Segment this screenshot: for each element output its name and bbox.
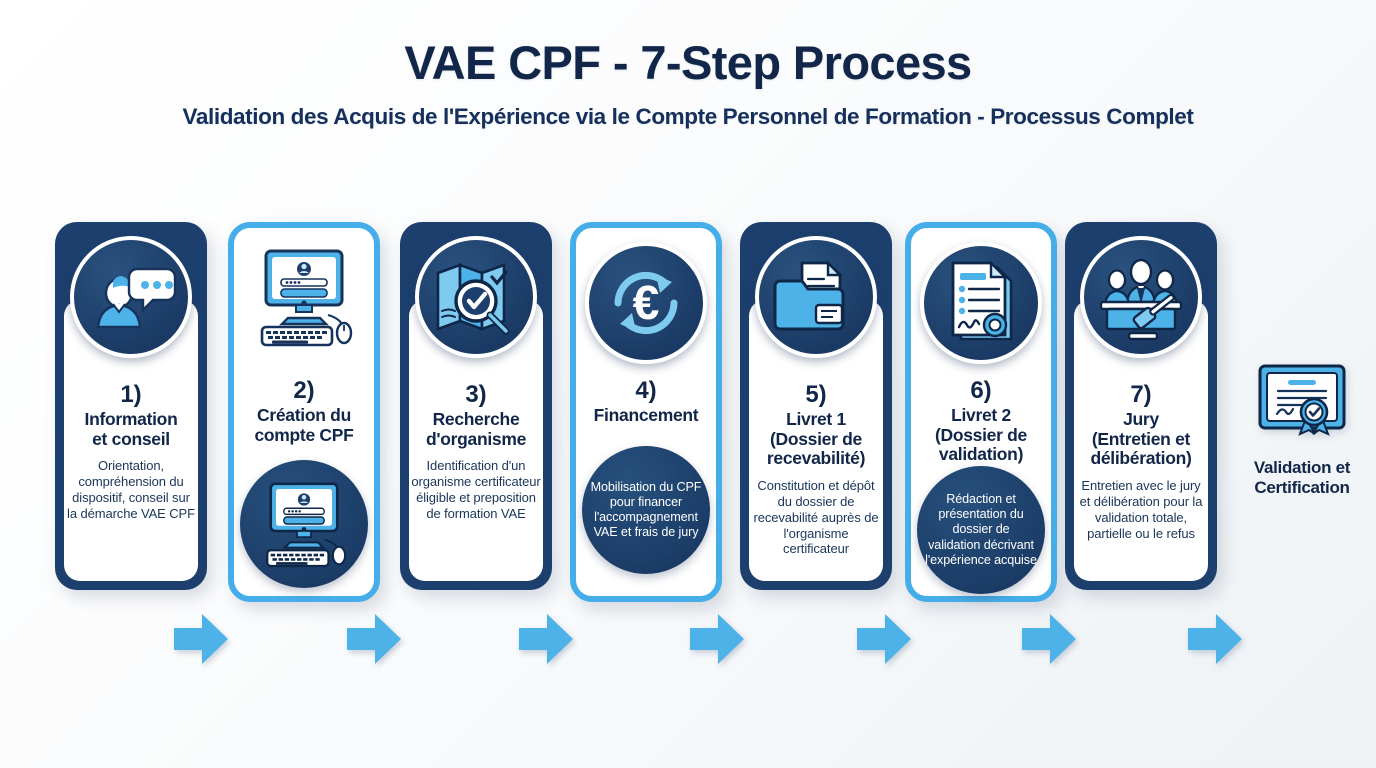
step-5-text: 5) Livret 1 (Dossier de recevabilité) Co… bbox=[744, 382, 888, 557]
step-card-3[interactable]: 3) Recherche d'organisme Identification … bbox=[400, 222, 552, 590]
euro-cycle-icon: € bbox=[585, 242, 707, 364]
final-certification-block: Validation et Certification bbox=[1232, 362, 1372, 497]
step-7-text: 7) Jury (Entretien et délibération) Entr… bbox=[1069, 382, 1213, 541]
step-card-5[interactable]: 5) Livret 1 (Dossier de recevabilité) Co… bbox=[740, 222, 892, 590]
map-magnifier-check-icon bbox=[415, 236, 537, 358]
step-6-title: Livret 2 (Dossier de validation) bbox=[915, 406, 1047, 465]
final-certification-label: Validation et Certification bbox=[1232, 458, 1372, 497]
step-3-text: 3) Recherche d'organisme Identification … bbox=[404, 382, 548, 522]
step-1-title: Information et conseil bbox=[59, 410, 203, 449]
step-4-number: 4) bbox=[580, 378, 712, 403]
certificate-award-icon bbox=[1232, 362, 1372, 444]
step-2-text: 2) Création du compte CPF bbox=[238, 378, 370, 445]
step-card-7[interactable]: 7) Jury (Entretien et délibération) Entr… bbox=[1065, 222, 1217, 590]
step-6-number: 6) bbox=[915, 378, 1047, 403]
step-2-title: Création du compte CPF bbox=[238, 406, 370, 445]
computer-login-icon bbox=[243, 236, 365, 358]
step-7-number: 7) bbox=[1069, 382, 1213, 407]
signed-certificate-document-icon bbox=[920, 242, 1042, 364]
folder-documents-icon bbox=[755, 236, 877, 358]
step-3-description: Identification d'un organisme certificat… bbox=[404, 458, 548, 521]
person-speech-bubble-icon bbox=[70, 236, 192, 358]
step-7-description: Entretien avec le jury et délibération p… bbox=[1069, 478, 1213, 541]
flow-arrow-1 bbox=[172, 610, 230, 668]
flow-arrow-5 bbox=[855, 610, 913, 668]
step-card-4[interactable]: € 4) Financement Mobilisation du CPF pou… bbox=[570, 222, 722, 602]
flow-arrow-6 bbox=[1020, 610, 1078, 668]
flow-arrow-4 bbox=[688, 610, 746, 668]
page-title: VAE CPF - 7-Step Process bbox=[0, 38, 1376, 87]
step-4-description: Mobilisation du CPF pour financer l'acco… bbox=[582, 480, 710, 540]
computer-login-icon-secondary bbox=[240, 460, 368, 588]
step-card-6[interactable]: 6) Livret 2 (Dossier de validation) Réda… bbox=[905, 222, 1057, 602]
jury-panel-gavel-icon bbox=[1080, 236, 1202, 358]
step-5-description: Constitution et dépôt du dossier de rece… bbox=[744, 478, 888, 557]
step-card-1[interactable]: 1) Information et conseil Orientation, c… bbox=[55, 222, 207, 590]
flow-arrow-3 bbox=[517, 610, 575, 668]
step-1-number: 1) bbox=[59, 382, 203, 407]
step-5-number: 5) bbox=[744, 382, 888, 407]
step-1-text: 1) Information et conseil Orientation, c… bbox=[59, 382, 203, 522]
svg-text:€: € bbox=[633, 277, 660, 330]
step-2-number: 2) bbox=[238, 378, 370, 403]
flow-arrow-7 bbox=[1186, 610, 1244, 668]
step-4-title: Financement bbox=[580, 406, 712, 426]
step-1-description: Orientation, compréhension du dispositif… bbox=[59, 458, 203, 521]
step-6-description-circle: Rédaction et présentation du dossier de … bbox=[917, 466, 1045, 594]
step-7-title: Jury (Entretien et délibération) bbox=[1069, 410, 1213, 469]
step-3-number: 3) bbox=[404, 382, 548, 407]
step-6-description: Rédaction et présentation du dossier de … bbox=[917, 492, 1045, 568]
process-flow: 1) Information et conseil Orientation, c… bbox=[0, 222, 1376, 622]
step-6-text: 6) Livret 2 (Dossier de validation) bbox=[915, 378, 1047, 465]
page-subtitle: Validation des Acquis de l'Expérience vi… bbox=[0, 104, 1376, 130]
step-4-text: 4) Financement bbox=[580, 378, 712, 426]
step-5-title: Livret 1 (Dossier de recevabilité) bbox=[744, 410, 888, 469]
infographic-header: VAE CPF - 7-Step Process Validation des … bbox=[0, 0, 1376, 130]
flow-arrow-2 bbox=[345, 610, 403, 668]
step-card-2[interactable]: 2) Création du compte CPF bbox=[228, 222, 380, 602]
step-4-description-circle: Mobilisation du CPF pour financer l'acco… bbox=[582, 446, 710, 574]
step-3-title: Recherche d'organisme bbox=[404, 410, 548, 449]
